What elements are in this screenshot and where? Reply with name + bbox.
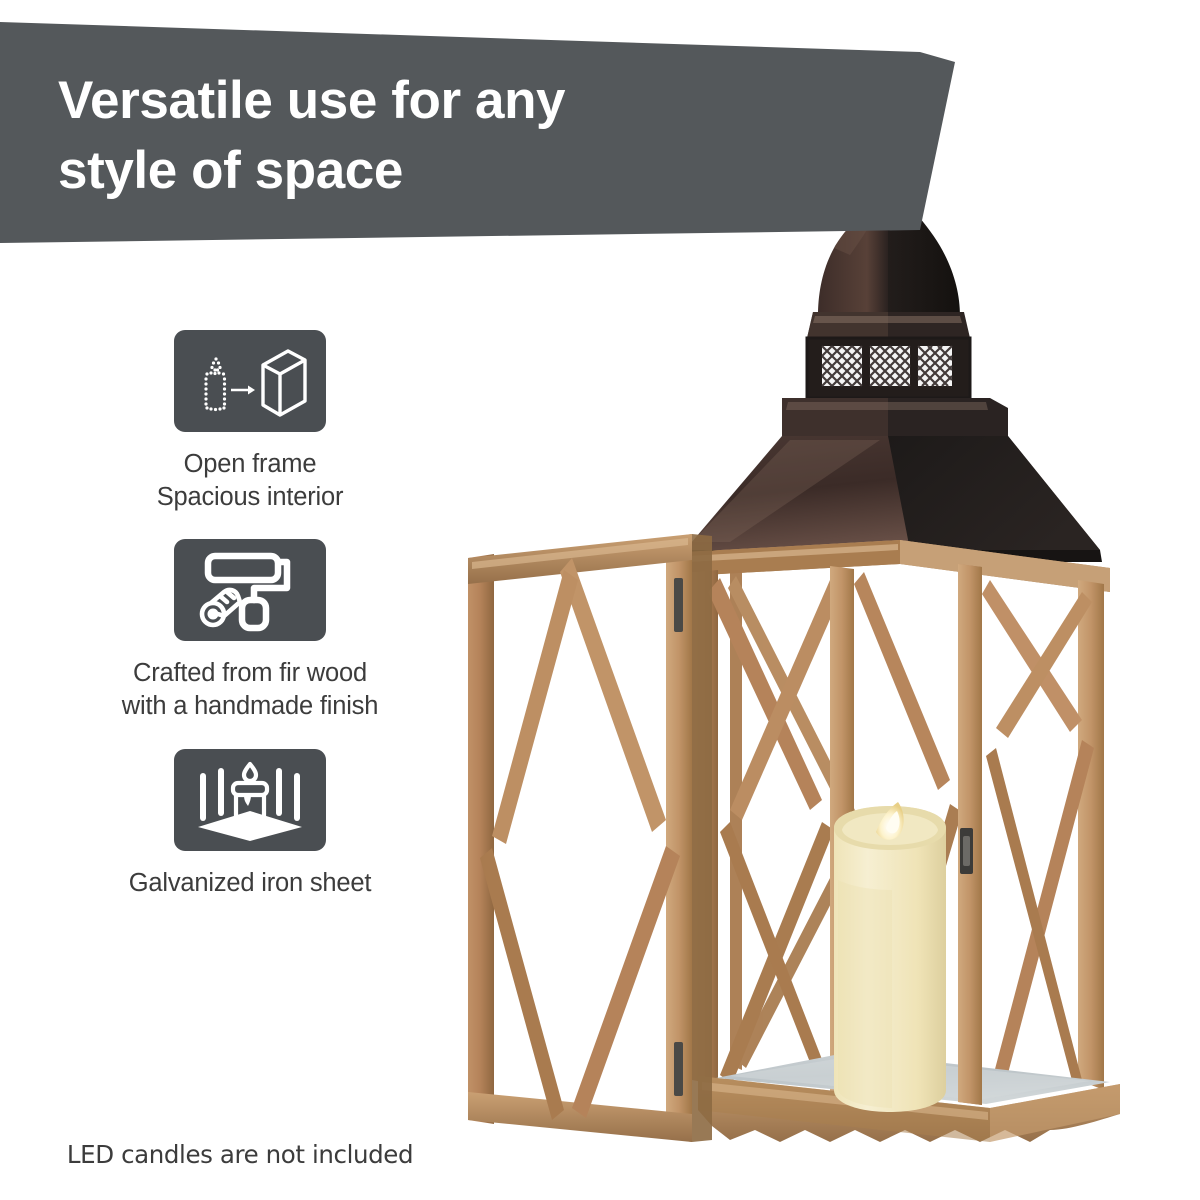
chimney-base-part — [782, 398, 1008, 436]
feature-caption-line: Spacious interior — [60, 481, 440, 514]
door-edge-part — [692, 534, 712, 1142]
product-image-lantern — [430, 80, 1150, 1160]
open-hinged-door-part — [468, 534, 692, 1160]
feature-caption-line: Open frame — [60, 448, 440, 481]
feature-caption-fir-wood: Crafted from fir wood with a handmade fi… — [60, 657, 440, 722]
feature-item-open-frame: Open frame Spacious interior — [60, 330, 440, 513]
candle-into-open-box-icon — [174, 330, 326, 432]
feature-caption-galvanized-sheet: Galvanized iron sheet — [60, 867, 440, 900]
door-latch-stile-part — [958, 564, 982, 1105]
banner-line-1: Versatile use for any — [58, 66, 848, 136]
product-feature-graphic: Versatile use for any style of space — [0, 0, 1200, 1200]
feature-list: Open frame Spacious interior — [60, 330, 440, 925]
banner-line-2: style of space — [58, 136, 848, 206]
feature-caption-line: with a handmade finish — [60, 690, 440, 723]
feature-item-galvanized-sheet: Galvanized iron sheet — [60, 749, 440, 900]
dome-collar-part — [807, 312, 970, 338]
feature-item-fir-wood: Crafted from fir wood with a handmade fi… — [60, 539, 440, 722]
feature-caption-line: Galvanized iron sheet — [60, 867, 440, 900]
led-pillar-candle-part — [834, 802, 946, 1112]
footnote-led-candles: LED candles are not included — [0, 1140, 480, 1169]
paint-roller-icon — [174, 539, 326, 641]
feature-caption-line: Crafted from fir wood — [60, 657, 440, 690]
mesh-vent-part — [807, 338, 970, 398]
candle-on-iron-sheet-icon — [174, 749, 326, 851]
feature-caption-open-frame: Open frame Spacious interior — [60, 448, 440, 513]
header-banner-text: Versatile use for any style of space — [58, 66, 848, 207]
